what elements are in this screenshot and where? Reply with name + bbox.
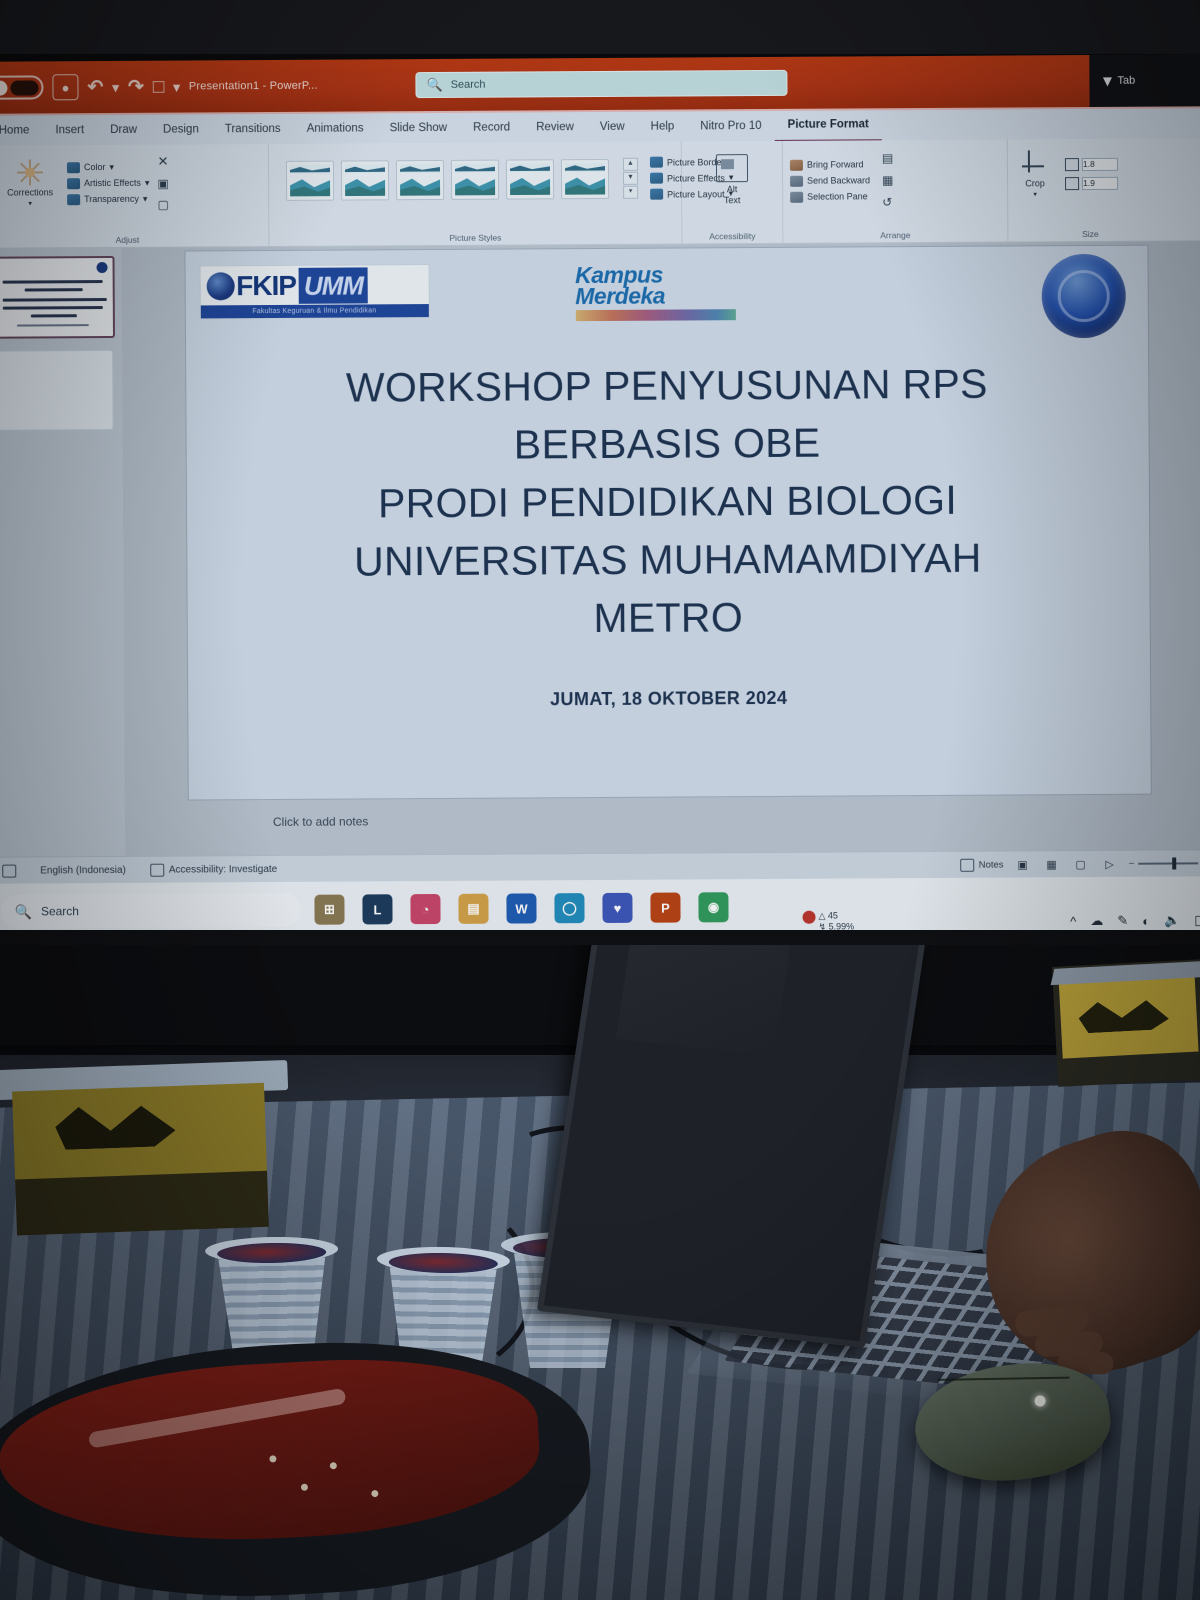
picture-style-thumb-5[interactable] [506,159,554,199]
ribbon-tab-insert[interactable]: Insert [42,115,97,145]
file-explorer-icon[interactable]: ▤ [458,894,488,924]
bring-forward-icon [790,159,803,170]
fkip-acronym: FKIP [236,271,296,299]
chevron-down-icon[interactable]: ▾ [109,161,114,172]
slide-canvas-area: FKIP UMM Fakultas Keguruan & Ilmu Pendid… [121,241,1200,856]
battery-line1: △ 45 [819,910,855,921]
chevron-down-icon[interactable]: ▾ [1103,71,1111,91]
corrections-chevron-icon[interactable]: ▾ [28,199,32,207]
bitdefender-icon[interactable]: ♥ [602,893,632,923]
monitor-bottom-bezel [0,930,1200,945]
notes-icon [961,858,975,871]
reset-picture-icon[interactable]: ▢ [158,198,169,212]
change-picture-icon[interactable]: ▣ [157,177,168,191]
redo-icon[interactable]: ↷ [128,77,144,96]
ribbon-tab-picture-format[interactable]: Picture Format [775,109,882,142]
align-icon[interactable]: ▤ [882,151,893,165]
cardboard-box-left [0,1060,293,1230]
shape-width-field[interactable]: 1.9 [1065,177,1118,190]
color-label: Color [84,162,106,172]
quick-access-toolbar: ● ↶ ▾ ↷ □ ▾ Presentation1 - PowerP... [0,60,318,114]
kampus-merdeka-line2: Merdeka [575,285,735,307]
search-box[interactable]: 🔍 Search [415,70,787,98]
accessibility-label: Accessibility: Investigate [169,863,277,875]
height-value[interactable]: 1.8 [1082,158,1118,171]
zoom-out-button[interactable]: − [1129,858,1135,869]
picture-style-thumb-3[interactable] [396,159,444,199]
brightness-icon [17,159,43,185]
umm-acronym: UMM [299,267,368,303]
slide-title-line-1: WORKSHOP PENYUSUNAN RPS [186,354,1148,418]
ribbon-group-adjust: Compress Pictures Corrections ▾ [0,144,269,248]
chevron-down-icon[interactable]: ▾ [145,177,150,188]
gallery-more-icon[interactable]: ▾ [623,186,638,199]
picture-style-thumb-1[interactable] [286,160,334,200]
slide-title-line-3: PRODI PENDIDIKAN BIOLOGI [186,470,1148,534]
desk-foreground [0,945,1200,1600]
ribbon-tab-animations[interactable]: Animations [294,113,377,144]
monitor: ● ↶ ▾ ↷ □ ▾ Presentation1 - PowerP... 🔍 … [0,0,1200,945]
undo-dropdown-icon[interactable]: ▾ [112,80,119,93]
color-icon [67,162,80,173]
lenovo-vantage-icon[interactable]: L [362,894,392,924]
search-placeholder: Search [451,79,486,91]
wifi-icon[interactable]: ◐ [1142,913,1150,928]
mouse-led-icon [1034,1395,1046,1407]
ribbon-group-accessibility: Alt Text Accessibility [682,141,784,244]
start-slideshow-icon[interactable]: □ [153,77,165,96]
undo-icon[interactable]: ↶ [87,78,103,97]
taskbar-search-label: Search [41,904,79,918]
compress-pictures-icon[interactable]: ✕ [157,154,168,170]
pen-icon[interactable]: ✎ [1117,913,1128,929]
ribbon-tab-record[interactable]: Record [460,112,523,142]
transparency-button[interactable]: Transparency▾ [67,193,149,205]
picture-effects-icon [650,173,663,184]
ribbon-tab-review[interactable]: Review [523,112,587,142]
picture-styles-group-title: Picture Styles [276,231,674,244]
slide-title-line-4: UNIVERSITAS MUHAMAMDIYAH [187,528,1149,592]
crop-button[interactable]: Crop ▾ [1015,150,1055,198]
slide-date-text[interactable]: JUMAT, 18 OKTOBER 2024 [188,686,1150,713]
crop-label: Crop [1025,178,1045,188]
status-bar-right: Notes ▣ ▦ ▢ ▷ − + [961,850,1200,878]
picture-style-thumb-4[interactable] [451,159,499,199]
group-icon[interactable]: ▦ [882,173,893,187]
ribbon-tab-design[interactable]: Design [150,114,212,144]
send-backward-label: Send Backward [807,175,870,185]
size-group-title: Size [1015,228,1165,240]
slide-thumbnail-2[interactable] [0,350,114,431]
alt-text-icon[interactable] [716,154,748,182]
accessibility-indicator[interactable]: Accessibility: Investigate [138,862,289,876]
ribbon-tab-nitro-pro-10[interactable]: Nitro Pro 10 [687,111,775,142]
document-title: Presentation1 - PowerP... [189,80,318,93]
search-icon: 🔍 [14,903,32,920]
artistic-effects-label: Artistic Effects [84,178,141,188]
corrections-label: Corrections [7,187,53,197]
zoom-slider[interactable]: − + [1129,858,1200,869]
picture-border-icon [650,157,663,168]
alert-badge-icon [803,911,816,924]
taskbar-search[interactable]: 🔍 Search [0,893,300,929]
ribbon-group-size: Crop ▾ 1.8 1.9 Size [1008,139,1173,242]
slide-title-line-5: METRO [187,586,1149,650]
fkip-umm-logo: FKIP UMM Fakultas Keguruan & Ilmu Pendid… [199,264,429,319]
cardboard-box-right [1052,959,1200,1087]
word-icon[interactable]: W [506,893,536,923]
artistic-effects-button[interactable]: Artistic Effects▾ [67,177,149,189]
slide-indicator [0,864,28,877]
bring-forward-label: Bring Forward [807,159,864,169]
crop-icon [1022,150,1048,176]
selection-pane-icon [790,191,803,202]
rotate-icon[interactable]: ↺ [882,195,893,209]
kampus-merdeka-logo: Kampus Merdeka [575,264,735,327]
picture-style-thumb-6[interactable] [561,158,609,198]
volume-icon[interactable]: 🔈 [1164,912,1180,928]
ribbon-tab-view[interactable]: View [587,112,638,142]
editor-workspace: FKIP UMM Fakultas Keguruan & Ilmu Pendid… [0,241,1200,856]
transparency-label: Transparency [84,194,139,204]
slide-logo-row: FKIP UMM Fakultas Keguruan & Ilmu Pendid… [185,246,1148,348]
powerpoint-title-bar: ● ↶ ▾ ↷ □ ▾ Presentation1 - PowerP... 🔍 … [0,54,1200,113]
title-bar-right-cluster: ▾ Tab [1089,54,1200,107]
chevron-down-icon[interactable]: ▾ [143,193,148,204]
picture-styles-gallery[interactable] [276,158,619,200]
alt-text-label-line2[interactable]: Text [724,195,741,206]
show-hidden-icons-icon[interactable]: ^ [1070,914,1076,929]
slide-title-line-2: BERBASIS OBE [186,412,1148,476]
ribbon-tab-transitions[interactable]: Transitions [212,114,294,144]
alt-text-label-line1[interactable]: Alt [724,184,741,195]
windows-start-icon[interactable]: ⊞ [314,895,344,925]
taskbar-app-icons[interactable]: ⊞L◔▤W◯♥P◉ [314,892,728,925]
laptop [560,945,920,1415]
powerpoint-icon[interactable]: P [650,893,680,923]
gallery-up-icon[interactable]: ▲ [623,158,638,171]
selection-pane-label: Selection Pane [807,191,868,201]
shape-height-field[interactable]: 1.8 [1065,158,1118,171]
slide-thumbnail-pane[interactable] [0,248,125,857]
search-icon: 🔍 [426,77,442,93]
photo-of-desk-with-monitor: ● ↶ ▾ ↷ □ ▾ Presentation1 - PowerP... 🔍 … [0,0,1200,1600]
corrections-button[interactable]: Corrections ▾ [1,159,59,207]
fkip-subtitle: Fakultas Keguruan & Ilmu Pendidikan [200,304,428,318]
save-icon[interactable]: ● [52,74,78,100]
zoom-track[interactable] [1138,862,1198,864]
ribbon-body: Compress Pictures Corrections ▾ [0,138,1200,248]
language-indicator[interactable]: English (Indonesia) [28,864,138,876]
notes-pane[interactable]: Click to add notes [125,793,1200,846]
accessibility-group-title: Accessibility [709,230,755,241]
system-tray[interactable]: ^ ☁ ✎ ◐ 🔈 ◫ [1070,912,1200,929]
ribbon-group-arrange: Bring Forward Send Backward Selection Pa… [783,140,1009,243]
battery-icon[interactable]: ◫ [1194,912,1200,928]
height-icon [1065,158,1079,171]
ribbon-group-picture-styles: ▲ ▼ ▾ Picture Border▾ Picture Effects▾ P… [269,141,683,246]
university-seal-icon [1041,254,1126,339]
arrange-group-title: Arrange [790,229,1000,241]
autosave-toggle[interactable] [0,75,44,99]
onedrive-icon[interactable]: ☁ [1090,913,1103,929]
ribbon-tab-home[interactable]: Home [0,115,43,145]
width-value[interactable]: 1.9 [1082,177,1118,190]
crop-chevron-icon[interactable]: ▾ [1033,190,1037,198]
zoom-knob[interactable] [1172,857,1176,869]
monitor-screen: ● ↶ ▾ ↷ □ ▾ Presentation1 - PowerP... 🔍 … [0,54,1200,945]
monitor-top-bezel [0,0,1200,58]
picture-style-thumb-2[interactable] [341,160,389,200]
artistic-effects-icon [67,178,80,189]
notes-placeholder: Click to add notes [273,814,368,829]
edge-icon[interactable]: ◯ [554,893,584,923]
fkip-seal-icon [206,272,234,300]
ribbon-tab-slide-show[interactable]: Slide Show [376,113,460,144]
slide-title-text[interactable]: WORKSHOP PENYUSUNAN RPSBERBASIS OBEPRODI… [186,354,1150,650]
reading-view-icon[interactable]: ▢ [1070,856,1090,872]
adjust-group-title: Adjust [0,233,261,246]
slide-sorter-icon[interactable]: ▦ [1041,856,1061,872]
slideshow-view-icon[interactable]: ▷ [1099,856,1119,872]
send-backward-button[interactable]: Send Backward [790,175,870,186]
gallery-down-icon[interactable]: ▼ [623,172,638,185]
more-commands-icon[interactable]: ▾ [173,80,180,93]
notes-toggle-button[interactable]: Notes [961,858,1004,871]
normal-view-icon[interactable]: ▣ [1012,856,1032,872]
ribbon-tab-draw[interactable]: Draw [97,115,150,145]
bring-forward-button[interactable]: Bring Forward [790,159,870,170]
gallery-scroll-controls[interactable]: ▲ ▼ ▾ [623,158,638,199]
picture-layout-icon [650,189,663,200]
color-button[interactable]: Color▾ [67,161,149,173]
slide-thumbnail-1[interactable] [0,256,115,339]
kampus-merdeka-colorbar [575,309,735,321]
current-slide[interactable]: FKIP UMM Fakultas Keguruan & Ilmu Pendid… [185,246,1150,800]
top-right-label: Tab [1117,75,1135,87]
notes-button-label: Notes [979,859,1004,870]
width-icon [1065,177,1079,190]
adjust-commands: Color▾ Artistic Effects▾ Transparency▾ [67,161,150,205]
chrome-icon[interactable]: ◉ [698,892,728,922]
accessibility-icon [150,863,164,876]
send-backward-icon [790,175,803,186]
ribbon-tab-help[interactable]: Help [638,111,688,141]
copilot-icon[interactable]: ◔ [410,894,440,924]
thumbnail-seal-icon [97,262,108,273]
slide-icon [2,864,16,877]
selection-pane-button[interactable]: Selection Pane [790,191,870,202]
transparency-icon [67,194,80,205]
